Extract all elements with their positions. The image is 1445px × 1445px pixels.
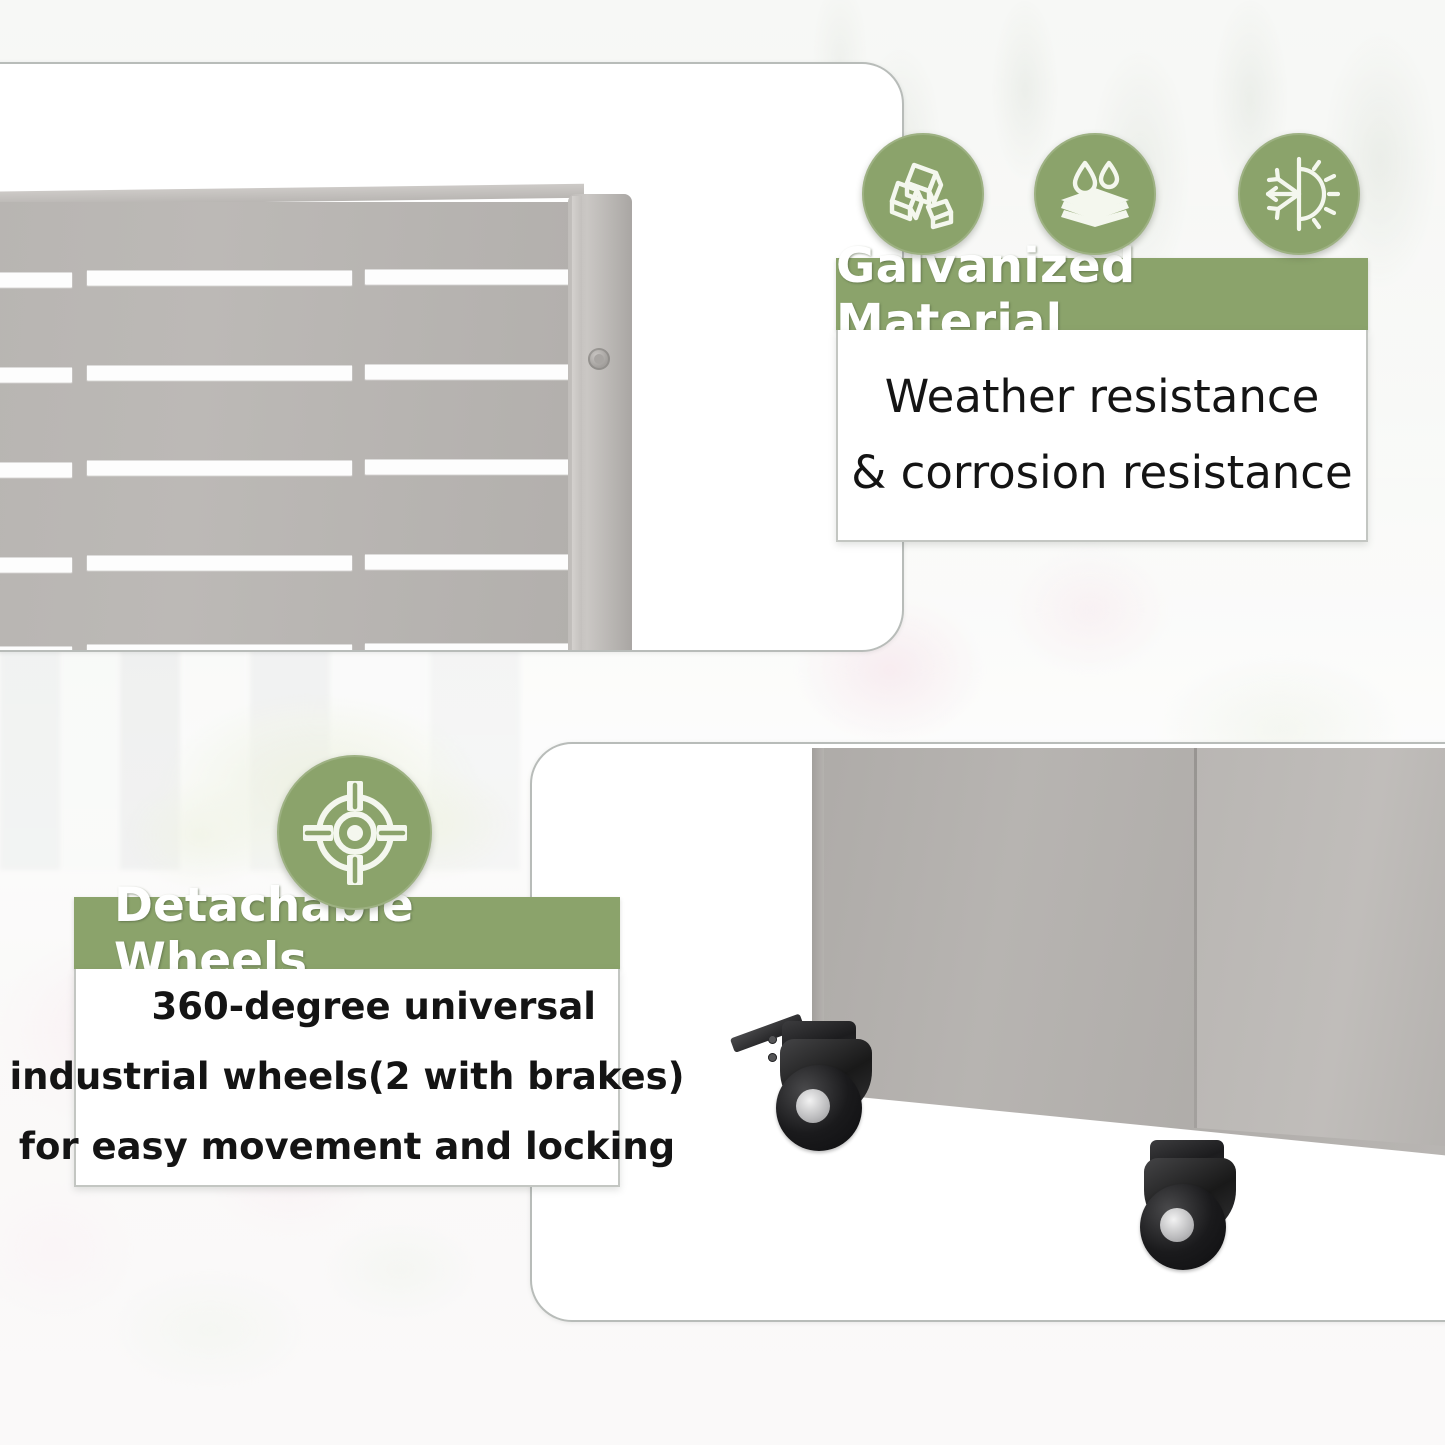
feature-card-detachable-wheels: Detachable Wheels 360-degree universal i… (74, 897, 620, 1187)
box-panel-seam (1194, 748, 1197, 1128)
caster-bolt (768, 1035, 777, 1044)
panel-screw-icon (588, 348, 610, 370)
infographic-canvas: Galvanized Material Weather resistance &… (0, 0, 1445, 1445)
feature-body-line: industrial wheels(2 with brakes) (9, 1042, 684, 1112)
box-right-face (1197, 748, 1445, 1148)
panel-post-highlight (572, 196, 582, 652)
feature-body-line: Weather resistance (885, 359, 1320, 435)
panel-slot (365, 364, 570, 379)
caster-bolt (768, 1053, 777, 1062)
caster-wheels-photo (530, 742, 1445, 1322)
caster-hub (1160, 1208, 1194, 1242)
feature-body: Weather resistance & corrosion resistanc… (836, 330, 1368, 542)
slatted-panel-product (0, 174, 692, 652)
panel-slot (87, 460, 352, 475)
panel-slot (0, 462, 72, 477)
panel-slot (365, 459, 570, 474)
metal-ingots-icon (862, 133, 984, 255)
feature-body-line: 360-degree universal (152, 972, 606, 1042)
caster-target-icon (277, 755, 432, 910)
panel-slot (0, 646, 72, 652)
caster-hub (796, 1089, 830, 1123)
feature-card-galvanized-material: Galvanized Material Weather resistance &… (836, 258, 1368, 542)
panel-slot (0, 367, 72, 382)
panel-slot (87, 365, 352, 380)
panel-slot (87, 270, 352, 285)
feature-body-line: & corrosion resistance (851, 435, 1352, 511)
feature-title: Galvanized Material (836, 258, 1368, 330)
feature-body: 360-degree universal industrial wheels(2… (74, 969, 620, 1187)
snowflake-sun-icon (1238, 133, 1360, 255)
slatted-panel-photo (0, 62, 904, 652)
panel-slot (87, 555, 352, 570)
feature-body-line: for easy movement and locking (19, 1112, 675, 1182)
panel-slot (87, 644, 352, 652)
panel-slot (365, 554, 570, 569)
panel-slot (0, 272, 72, 287)
water-droplets-layers-icon (1034, 133, 1156, 255)
storage-box-product (762, 744, 1445, 1322)
panel-slot (365, 643, 570, 652)
panel-slot (0, 557, 72, 572)
panel-slot (365, 269, 570, 284)
